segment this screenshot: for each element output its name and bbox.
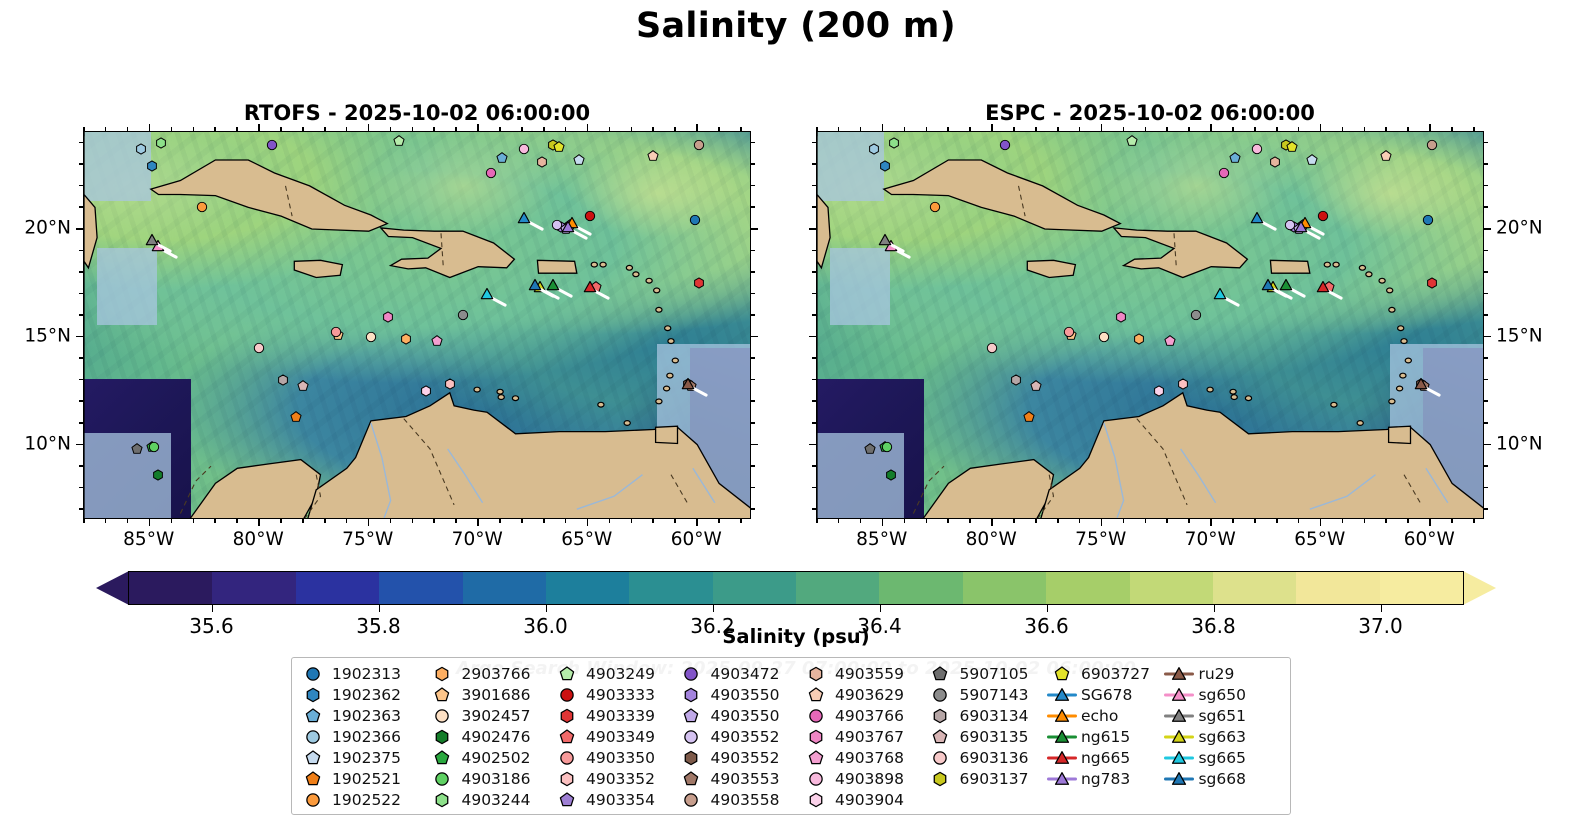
- y-axis-tick-label: 10°N: [24, 433, 71, 454]
- x-axis-tick-label: 80°W: [946, 529, 1036, 550]
- glider-marker-sg651[interactable]: [877, 232, 892, 247]
- y-axis-minor-tick: [751, 206, 755, 208]
- colorbar-band: [1296, 572, 1379, 604]
- y-axis-minor-tick: [812, 206, 816, 208]
- argo-float-marker-2903766[interactable]: [399, 332, 412, 345]
- x-axis-tick: [1101, 519, 1103, 526]
- y-axis-minor-tick: [812, 422, 816, 424]
- legend-item[interactable]: SG678: [1047, 684, 1165, 705]
- legend-column-6: 5907105590714369031346903135690313669031…: [925, 663, 1047, 810]
- legend-item[interactable]: 1902366: [298, 726, 427, 747]
- argo-float-marker-4903558[interactable]: [1426, 138, 1439, 151]
- y-axis-minor-tick: [812, 508, 816, 510]
- argo-float-marker-4903558[interactable]: [693, 138, 706, 151]
- x-axis-minor-tick: [324, 127, 326, 131]
- y-axis-minor-tick: [812, 250, 816, 252]
- argo-float-marker-6903727[interactable]: [553, 141, 566, 154]
- argo-float-marker-4903559[interactable]: [535, 156, 548, 169]
- hexagon-icon: [427, 665, 457, 683]
- argo-float-marker-4903244[interactable]: [154, 136, 167, 149]
- legend-item[interactable]: 4903767: [801, 726, 926, 747]
- x-axis-minor-tick: [433, 127, 435, 131]
- argo-float-marker-4903244[interactable]: [887, 136, 900, 149]
- triangle-line-icon: [1047, 707, 1077, 725]
- triangle-line-icon: [1047, 728, 1077, 746]
- island: [1357, 421, 1363, 426]
- argo-float-marker-6903727[interactable]: [1286, 141, 1299, 154]
- argo-float-marker-4903472[interactable]: [999, 138, 1012, 151]
- argo-float-marker-1902375[interactable]: [572, 154, 585, 167]
- argo-float-marker-4903186[interactable]: [148, 440, 161, 453]
- x-axis-minor-tick: [1013, 519, 1015, 523]
- x-axis-minor-tick: [1013, 127, 1015, 131]
- circle-icon: [427, 770, 457, 788]
- legend-item[interactable]: 3902457: [427, 705, 552, 726]
- glider-marker-sg665[interactable]: [479, 286, 494, 301]
- pentagon-icon: [298, 770, 328, 788]
- x-axis-minor-tick: [280, 127, 282, 131]
- legend-item[interactable]: 1902522: [298, 789, 427, 810]
- hexagon-icon: [925, 707, 955, 725]
- colorbar-tick: [880, 605, 882, 612]
- glider-marker-sg651[interactable]: [144, 232, 159, 247]
- x-axis-tick-label: 85°W: [104, 529, 194, 550]
- glider-marker-sg668[interactable]: [528, 278, 543, 293]
- argo-float-marker-4903767[interactable]: [382, 311, 395, 324]
- legend-item[interactable]: 1902363: [298, 705, 427, 726]
- legend-item-label: 4903472: [706, 665, 779, 683]
- x-axis-minor-tick: [1232, 127, 1234, 131]
- argo-float-marker-3902457[interactable]: [364, 330, 377, 343]
- map-panel-rtofs[interactable]: [83, 131, 751, 519]
- argo-float-marker-5907143[interactable]: [456, 309, 469, 322]
- legend-item[interactable]: 2903766: [427, 663, 552, 684]
- legend-item-label: 4903333: [582, 686, 655, 704]
- argo-float-marker-4902476[interactable]: [152, 468, 165, 481]
- y-axis-minor-tick: [751, 271, 755, 273]
- landmass-trinidad: [656, 426, 678, 443]
- x-axis-minor-tick: [302, 127, 304, 131]
- island: [624, 421, 630, 426]
- argo-float-marker-6903136[interactable]: [253, 341, 266, 354]
- legend-item-label: sg668: [1194, 770, 1246, 788]
- map-panel-espc[interactable]: [816, 131, 1484, 519]
- y-axis-minor-tick: [79, 379, 83, 381]
- legend-item-label: 1902362: [328, 686, 401, 704]
- argo-float-marker-4903339[interactable]: [1426, 276, 1439, 289]
- legend-item[interactable]: sg663: [1164, 726, 1284, 747]
- y-axis-minor-tick: [751, 142, 755, 144]
- hexagon-icon: [676, 749, 706, 767]
- argo-float-marker-6903134[interactable]: [277, 373, 290, 386]
- hexagon-icon: [801, 791, 831, 809]
- y-axis-minor-tick: [1484, 163, 1488, 165]
- x-axis-minor-tick: [674, 127, 676, 131]
- argo-float-marker-4903350[interactable]: [329, 326, 342, 339]
- glider-marker-SG678[interactable]: [1250, 211, 1265, 226]
- x-axis-minor-tick: [1057, 519, 1059, 523]
- legend-item[interactable]: 4903550: [676, 684, 801, 705]
- island: [1400, 373, 1406, 378]
- argo-float-marker-1902522[interactable]: [196, 201, 209, 214]
- legend-item[interactable]: 4903552: [676, 726, 801, 747]
- y-axis-minor-tick: [812, 314, 816, 316]
- x-axis-minor-tick: [543, 519, 545, 523]
- circle-icon: [552, 749, 582, 767]
- argo-float-marker-4903559[interactable]: [1268, 156, 1281, 169]
- colorbar-tick: [1214, 605, 1216, 612]
- x-axis-minor-tick: [565, 127, 567, 131]
- legend-item[interactable]: sg650: [1164, 684, 1284, 705]
- island: [668, 339, 674, 344]
- y-axis-minor-tick: [751, 487, 755, 489]
- pentagon-icon: [1047, 665, 1077, 683]
- legend-item-label: 4903629: [831, 686, 904, 704]
- legend-item-label: sg665: [1194, 749, 1246, 767]
- y-axis-tick: [751, 444, 758, 446]
- argo-float-marker-6903135[interactable]: [297, 380, 310, 393]
- argo-float-marker-6903135[interactable]: [1030, 380, 1043, 393]
- glider-marker-ng783[interactable]: [561, 219, 576, 234]
- argo-float-marker-4902476[interactable]: [885, 468, 898, 481]
- legend-item[interactable]: sg651: [1164, 705, 1284, 726]
- argo-float-marker-4903766[interactable]: [1218, 166, 1231, 179]
- y-axis-minor-tick: [751, 293, 755, 295]
- x-axis-tick: [587, 519, 589, 526]
- circle-icon: [676, 791, 706, 809]
- circle-icon: [298, 665, 328, 683]
- x-axis-minor-tick: [718, 519, 720, 523]
- argo-float-marker-5907105[interactable]: [130, 442, 143, 455]
- legend-item[interactable]: 4903558: [676, 789, 801, 810]
- argo-float-marker-4903768[interactable]: [430, 335, 443, 348]
- legend-column-5: 4903559490362949037664903767490376849038…: [801, 663, 926, 810]
- legend-item-label: 5907105: [955, 665, 1028, 683]
- legend-item[interactable]: 1902521: [298, 768, 427, 789]
- x-axis-tick-label: 75°W: [1056, 529, 1146, 550]
- platform-legend[interactable]: 1902313190236219023631902366190237519025…: [291, 657, 1291, 815]
- argo-float-marker-1902366[interactable]: [867, 143, 880, 156]
- island: [1333, 262, 1339, 267]
- legend-column-3: 4903249490333349033394903349490335049033…: [552, 663, 677, 810]
- legend-item-label: ng665: [1077, 749, 1130, 767]
- legend-item[interactable]: 1902313: [298, 663, 427, 684]
- argo-float-marker-1902362[interactable]: [145, 160, 158, 173]
- legend-item[interactable]: 4903249: [552, 663, 677, 684]
- x-axis-minor-tick: [171, 127, 173, 131]
- y-axis-minor-tick: [1484, 379, 1488, 381]
- island: [646, 278, 652, 283]
- y-axis-minor-tick: [812, 271, 816, 273]
- legend-item[interactable]: 4903349: [552, 726, 677, 747]
- x-axis-minor-tick: [1364, 127, 1366, 131]
- island: [1207, 387, 1213, 392]
- argo-float-marker-3902457[interactable]: [1097, 330, 1110, 343]
- x-axis-minor-tick: [1166, 127, 1168, 131]
- x-axis-minor-tick: [1145, 127, 1147, 131]
- x-axis-tick: [696, 124, 698, 131]
- x-axis-tick: [149, 519, 151, 526]
- landmass-southam: [1040, 393, 1484, 519]
- x-axis-tick-label: 60°W: [651, 529, 741, 550]
- legend-item[interactable]: 4903768: [801, 747, 926, 768]
- x-axis-minor-tick: [236, 127, 238, 131]
- legend-item[interactable]: 4903354: [552, 789, 677, 810]
- argo-float-marker-1902363[interactable]: [1229, 151, 1242, 164]
- legend-item-label: 6903727: [1077, 665, 1150, 683]
- legend-item-label: 3902457: [457, 707, 530, 725]
- colorbar-band: [713, 572, 796, 604]
- argo-float-marker-4903339[interactable]: [693, 276, 706, 289]
- y-axis-minor-tick: [1484, 465, 1488, 467]
- argo-float-marker-4903350[interactable]: [1062, 326, 1075, 339]
- island: [664, 386, 670, 391]
- legend-item[interactable]: 5907143: [925, 684, 1047, 705]
- legend-item[interactable]: 6903727: [1047, 663, 1165, 684]
- legend-item[interactable]: sg668: [1164, 768, 1284, 789]
- x-axis-minor-tick: [1451, 127, 1453, 131]
- glider-marker-sg665[interactable]: [1212, 286, 1227, 301]
- circle-icon: [676, 665, 706, 683]
- legend-column-4: 4903472490355049035504903552490355249035…: [676, 663, 801, 810]
- x-axis-minor-tick: [1254, 519, 1256, 523]
- x-axis-tick: [477, 519, 479, 526]
- legend-item[interactable]: echo: [1047, 705, 1165, 726]
- pentagon-icon: [801, 749, 831, 767]
- x-axis-minor-tick: [105, 127, 107, 131]
- legend-item[interactable]: 4903472: [676, 663, 801, 684]
- legend-item[interactable]: ru29: [1164, 663, 1284, 684]
- y-axis-minor-tick: [812, 142, 816, 144]
- argo-float-marker-4903352[interactable]: [443, 378, 456, 391]
- legend-item[interactable]: 6903136: [925, 747, 1047, 768]
- legend-item-label: 4903186: [457, 770, 530, 788]
- argo-float-marker-1902366[interactable]: [134, 143, 147, 156]
- argo-float-marker-2903766[interactable]: [1132, 332, 1145, 345]
- legend-item[interactable]: sg665: [1164, 747, 1284, 768]
- y-axis-minor-tick: [751, 314, 755, 316]
- legend-item[interactable]: 4902502: [427, 747, 552, 768]
- legend-item-label: sg663: [1194, 728, 1246, 746]
- island: [1324, 262, 1330, 267]
- argo-float-marker-4903333[interactable]: [583, 210, 596, 223]
- island: [1401, 339, 1407, 344]
- x-axis-minor-tick: [1035, 127, 1037, 131]
- legend-item[interactable]: 1902362: [298, 684, 427, 705]
- argo-float-marker-1902521[interactable]: [290, 410, 303, 423]
- y-axis-minor-tick: [751, 508, 755, 510]
- triangle-line-icon: [1164, 707, 1194, 725]
- x-axis-minor-tick: [1298, 127, 1300, 131]
- x-axis-minor-tick: [1407, 519, 1409, 523]
- glider-marker-ru29[interactable]: [1414, 377, 1429, 392]
- island: [1331, 402, 1337, 407]
- argo-float-marker-4903766[interactable]: [485, 166, 498, 179]
- y-axis-minor-tick: [751, 465, 755, 467]
- x-axis-tick: [696, 519, 698, 526]
- y-axis-tick: [809, 228, 816, 230]
- x-axis-minor-tick: [1407, 127, 1409, 131]
- y-axis-minor-tick: [79, 293, 83, 295]
- x-axis-minor-tick: [346, 519, 348, 523]
- legend-item-label: 4903766: [831, 707, 904, 725]
- glider-marker-ru29[interactable]: [681, 377, 696, 392]
- argo-float-marker-5907105[interactable]: [863, 442, 876, 455]
- triangle-line-icon: [1047, 770, 1077, 788]
- legend-item[interactable]: 4903559: [801, 663, 926, 684]
- island: [591, 262, 597, 267]
- legend-item[interactable]: 4903898: [801, 768, 926, 789]
- argo-float-marker-4903629[interactable]: [647, 149, 660, 162]
- legend-item[interactable]: 4903629: [801, 684, 926, 705]
- legend-item[interactable]: 4903350: [552, 747, 677, 768]
- y-axis-minor-tick: [812, 293, 816, 295]
- legend-item[interactable]: 6903137: [925, 768, 1047, 789]
- x-axis-minor-tick: [860, 127, 862, 131]
- legend-item[interactable]: 4903186: [427, 768, 552, 789]
- x-axis-minor-tick: [1254, 127, 1256, 131]
- legend-item[interactable]: ng615: [1047, 726, 1165, 747]
- colorbar-tick: [379, 605, 381, 612]
- x-axis-tick: [1210, 124, 1212, 131]
- argo-float-marker-4903904[interactable]: [419, 384, 432, 397]
- argo-float-marker-4903186[interactable]: [881, 440, 894, 453]
- argo-float-marker-6903136[interactable]: [986, 341, 999, 354]
- y-axis-tick-label: 15°N: [24, 325, 71, 346]
- legend-item-label: 1902522: [328, 791, 401, 809]
- argo-float-marker-4903249[interactable]: [393, 134, 406, 147]
- argo-float-marker-1902363[interactable]: [496, 151, 509, 164]
- legend-item-label: 6903135: [955, 728, 1028, 746]
- argo-float-marker-4903898[interactable]: [518, 143, 531, 156]
- pentagon-icon: [552, 728, 582, 746]
- x-axis-minor-tick: [1188, 127, 1190, 131]
- legend-item[interactable]: ng783: [1047, 768, 1165, 789]
- x-axis-minor-tick: [740, 519, 742, 523]
- island: [1379, 278, 1385, 283]
- legend-item-label: 4903249: [582, 665, 655, 683]
- legend-item-label: 6903134: [955, 707, 1028, 725]
- hexagon-icon: [925, 770, 955, 788]
- argo-float-marker-4903767[interactable]: [1115, 311, 1128, 324]
- legend-item[interactable]: 3901686: [427, 684, 552, 705]
- argo-float-marker-1902521[interactable]: [1023, 410, 1036, 423]
- legend-item[interactable]: 4903550: [676, 705, 801, 726]
- glider-marker-sg668[interactable]: [1261, 278, 1276, 293]
- legend-item-label: 4903898: [831, 770, 904, 788]
- argo-float-marker-4903898[interactable]: [1251, 143, 1264, 156]
- x-axis-minor-tick: [214, 519, 216, 523]
- legend-item-label: 1902366: [328, 728, 401, 746]
- argo-float-marker-1902362[interactable]: [878, 160, 891, 173]
- argo-float-marker-1902313[interactable]: [689, 214, 702, 227]
- argo-float-marker-1902375[interactable]: [1305, 154, 1318, 167]
- landmass-jamaica: [294, 260, 342, 277]
- x-axis-minor-tick: [390, 519, 392, 523]
- legend-item[interactable]: 4903553: [676, 768, 801, 789]
- y-axis-tick: [809, 444, 816, 446]
- x-axis-minor-tick: [565, 519, 567, 523]
- glider-marker-ng665[interactable]: [1315, 280, 1330, 295]
- argo-float-marker-4903249[interactable]: [1126, 134, 1139, 147]
- x-axis-minor-tick: [904, 127, 906, 131]
- argo-float-marker-4903352[interactable]: [1176, 378, 1189, 391]
- argo-float-marker-4903768[interactable]: [1163, 335, 1176, 348]
- argo-float-marker-4903629[interactable]: [1380, 149, 1393, 162]
- pentagon-icon: [427, 749, 457, 767]
- y-axis-minor-tick: [1484, 357, 1488, 359]
- glider-marker-SG678[interactable]: [517, 211, 532, 226]
- colorbar-tick: [1381, 605, 1383, 612]
- y-axis-minor-tick: [751, 422, 755, 424]
- landmass-florida: [84, 132, 270, 136]
- legend-item-label: 4903768: [831, 749, 904, 767]
- x-axis-minor-tick: [171, 519, 173, 523]
- x-axis-minor-tick: [816, 127, 818, 131]
- y-axis-tick: [1484, 336, 1491, 338]
- legend-item[interactable]: 5907105: [925, 663, 1047, 684]
- colorbar-extend-max-icon: [1463, 571, 1496, 605]
- y-axis-minor-tick: [1484, 142, 1488, 144]
- legend-item[interactable]: ng665: [1047, 747, 1165, 768]
- legend-item[interactable]: 6903134: [925, 705, 1047, 726]
- legend-item-label: 6903137: [955, 770, 1028, 788]
- legend-item[interactable]: 4903352: [552, 768, 677, 789]
- legend-item[interactable]: 4903766: [801, 705, 926, 726]
- panel-title-espc: ESPC - 2025-10-02 06:00:00: [816, 101, 1484, 125]
- legend-item[interactable]: 6903135: [925, 726, 1047, 747]
- x-axis-minor-tick: [499, 127, 501, 131]
- y-axis-minor-tick: [1484, 293, 1488, 295]
- y-axis-minor-tick: [79, 357, 83, 359]
- legend-item[interactable]: 4903552: [676, 747, 801, 768]
- argo-float-marker-6903134[interactable]: [1010, 373, 1023, 386]
- legend-item[interactable]: 4903339: [552, 705, 677, 726]
- pentagon-icon: [552, 791, 582, 809]
- legend-item-label: 2903766: [457, 665, 530, 683]
- argo-float-marker-5907143[interactable]: [1189, 309, 1202, 322]
- legend-item[interactable]: 1902375: [298, 747, 427, 768]
- glider-marker-ng783[interactable]: [1294, 219, 1309, 234]
- legend-item[interactable]: 4903333: [552, 684, 677, 705]
- legend-item[interactable]: 4902476: [427, 726, 552, 747]
- legend-column-7: 6903727SG678echong615ng665ng783: [1047, 663, 1165, 810]
- y-axis-minor-tick: [1484, 314, 1488, 316]
- legend-item-label: 4903350: [582, 749, 655, 767]
- legend-item[interactable]: 4903904: [801, 789, 926, 810]
- y-axis-minor-tick: [79, 422, 83, 424]
- argo-float-marker-4903472[interactable]: [266, 138, 279, 151]
- argo-float-marker-4903904[interactable]: [1152, 384, 1165, 397]
- legend-item[interactable]: 4903244: [427, 789, 552, 810]
- y-axis-minor-tick: [79, 250, 83, 252]
- x-axis-minor-tick: [1298, 519, 1300, 523]
- hexagon-icon: [298, 686, 328, 704]
- y-axis-minor-tick: [812, 379, 816, 381]
- island: [633, 272, 639, 277]
- y-axis-minor-tick: [812, 465, 816, 467]
- glider-marker-ng665[interactable]: [582, 280, 597, 295]
- island: [1389, 307, 1395, 312]
- argo-float-marker-1902313[interactable]: [1422, 214, 1435, 227]
- y-axis-minor-tick: [1484, 487, 1488, 489]
- argo-float-marker-1902522[interactable]: [929, 201, 942, 214]
- y-axis-tick-label: 20°N: [24, 218, 71, 239]
- argo-float-marker-4903333[interactable]: [1316, 210, 1329, 223]
- x-axis-tick: [1320, 519, 1322, 526]
- x-axis-minor-tick: [1276, 519, 1278, 523]
- colorbar-band: [212, 572, 295, 604]
